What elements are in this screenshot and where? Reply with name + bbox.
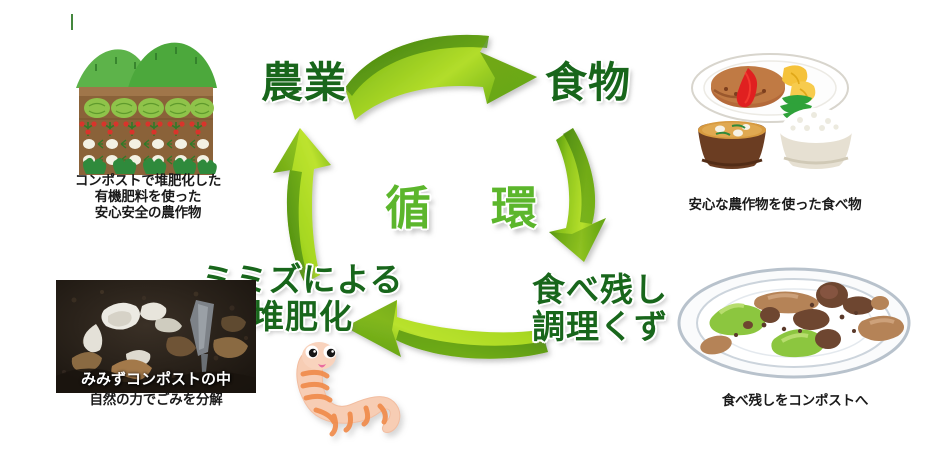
earthworm-mascot-illustration	[286, 342, 420, 457]
node-label-food: 食物	[528, 62, 648, 105]
node-label-leftovers: 食べ残し 調理くず	[524, 272, 676, 346]
cycle-diagram-canvas: コンポストで堆肥化した 有機肥料を使った 安心安全の農作物 農業 食物 循 環	[0, 0, 926, 459]
arrow-agriculture-to-food	[345, 35, 537, 120]
worm-compost-photo: みみずコンポストの中	[56, 280, 256, 393]
farm-field-illustration	[72, 30, 220, 175]
node-label-agriculture: 農業	[244, 62, 364, 105]
compost-caption: 自然の力でごみを分解	[46, 393, 266, 409]
japanese-meal-illustration	[688, 44, 860, 172]
farm-caption: コンポストで堆肥化した 有機肥料を使った 安心安全の農作物	[30, 174, 266, 222]
center-label-circulation: 循 環	[372, 172, 572, 238]
leftovers-caption: 食べ残しをコンポストへ	[660, 394, 926, 410]
compost-photo-overlay-label: みみずコンポストの中	[56, 368, 256, 389]
leftover-food-plate-illustration	[676, 265, 912, 381]
food-caption: 安心な農作物を使った食べ物	[630, 198, 920, 214]
